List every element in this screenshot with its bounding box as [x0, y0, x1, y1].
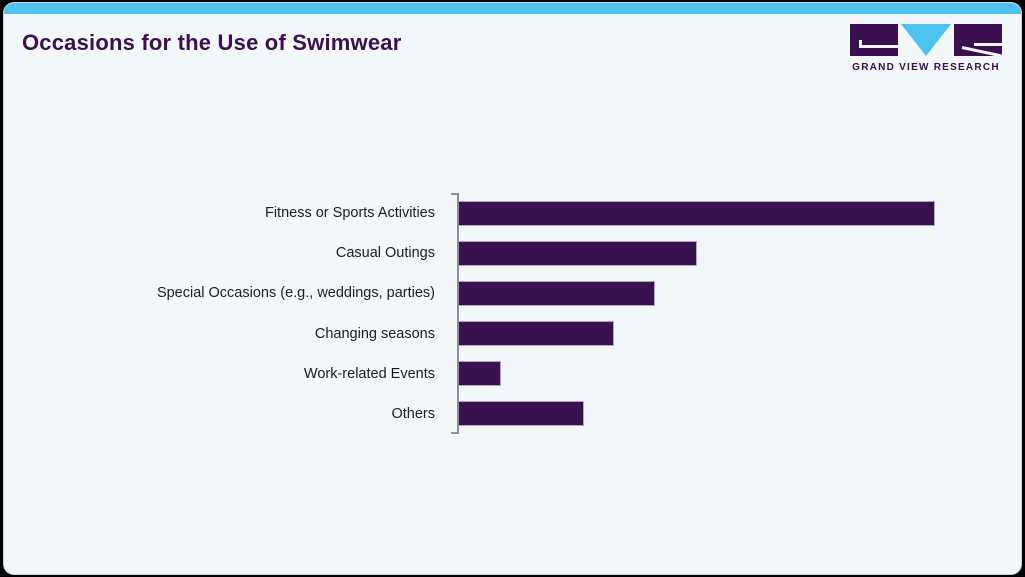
- slide-card: Occasions for the Use of Swimwear GRAND …: [4, 3, 1021, 574]
- bar-fill[interactable]: [459, 241, 697, 266]
- bar-track: [459, 354, 1021, 394]
- category-label: Fitness or Sports Activities: [15, 205, 435, 221]
- bar-row: Special Occasions (e.g., weddings, parti…: [4, 273, 1021, 313]
- bar-track: [459, 394, 1021, 434]
- bar-fill[interactable]: [459, 201, 935, 226]
- bar-fill[interactable]: [459, 361, 501, 386]
- category-label: Others: [15, 406, 435, 422]
- bar-row: Changing seasons: [4, 313, 1021, 353]
- bar-fill[interactable]: [459, 401, 584, 426]
- category-label: Special Occasions (e.g., weddings, parti…: [15, 285, 435, 301]
- bar-fill[interactable]: [459, 321, 614, 346]
- bar-track: [459, 273, 1021, 313]
- bar-row: Fitness or Sports Activities: [4, 193, 1021, 233]
- category-label: Work-related Events: [15, 366, 435, 382]
- bar-row: Work-related Events: [4, 354, 1021, 394]
- category-label: Changing seasons: [15, 326, 435, 342]
- category-label: Casual Outings: [15, 245, 435, 261]
- bar-fill[interactable]: [459, 281, 655, 306]
- bar-track: [459, 193, 1021, 233]
- bar-track: [459, 313, 1021, 353]
- bar-series: Fitness or Sports Activities Casual Outi…: [4, 193, 1021, 434]
- bar-row: Casual Outings: [4, 233, 1021, 273]
- bar-track: [459, 233, 1021, 273]
- bar-row: Others: [4, 394, 1021, 434]
- bar-chart-plot: Fitness or Sports Activities Casual Outi…: [4, 3, 1021, 574]
